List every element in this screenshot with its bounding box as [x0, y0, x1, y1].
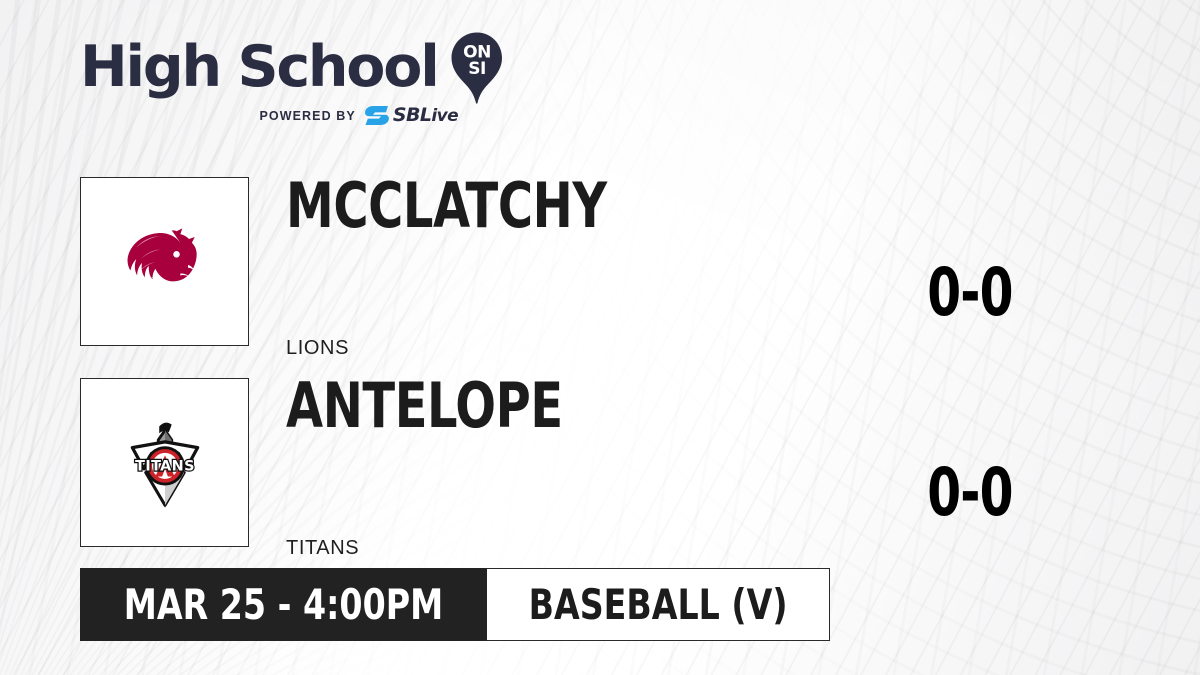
brand-title-row: High School ON SI: [80, 36, 510, 98]
titans-sword-shield-icon: TITANS: [117, 415, 213, 511]
game-sport-chip: BASEBALL (V): [487, 568, 830, 641]
sblive-logo: SBLive: [364, 105, 458, 126]
sblive-bolt-icon: [364, 105, 390, 126]
scoreboard-graphic: High School ON SI POWERED BY SBLive: [0, 0, 1200, 675]
lion-head-icon: [117, 214, 213, 310]
away-team-record: 0-0: [904, 260, 1035, 326]
away-team-mascot: LIONS: [286, 337, 349, 360]
away-team-logo-box: [80, 177, 249, 346]
home-team-mascot: TITANS: [286, 537, 359, 560]
game-sport-label: BASEBALL (V): [529, 584, 788, 626]
game-datetime-label: MAR 25 - 4:00PM: [124, 584, 443, 626]
powered-by-row: POWERED BY SBLive: [80, 105, 458, 126]
powered-by-label: POWERED BY: [259, 109, 355, 123]
game-info-bar: MAR 25 - 4:00PM BASEBALL (V): [80, 568, 830, 641]
home-team-record: 0-0: [904, 460, 1035, 526]
svg-text:SI: SI: [468, 59, 486, 79]
home-team-logo-box: TITANS: [80, 378, 249, 547]
sblive-wordmark: SBLive: [393, 106, 458, 125]
svg-text:TITANS: TITANS: [135, 458, 195, 474]
on-si-pin-icon: ON SI: [448, 31, 506, 105]
home-team-name: ANTELOPE: [286, 375, 563, 437]
game-datetime-chip: MAR 25 - 4:00PM: [80, 568, 487, 641]
brand-title: High School: [80, 39, 438, 96]
away-team-name: MCCLATCHY: [286, 175, 607, 237]
brand-header: High School ON SI POWERED BY SBLive: [80, 36, 510, 126]
